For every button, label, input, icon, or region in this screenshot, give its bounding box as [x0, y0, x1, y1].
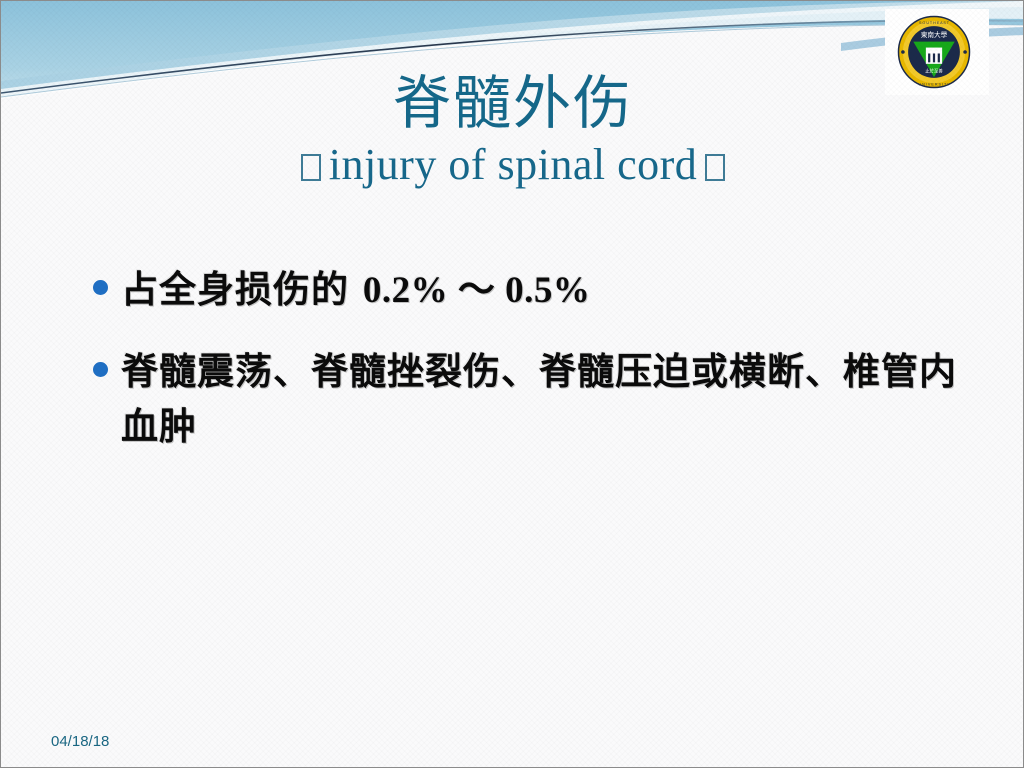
- missing-glyph-box-left: [301, 154, 321, 181]
- missing-glyph-box-right: [705, 154, 725, 181]
- list-item-label: 脊髓震荡、脊髓挫裂伤、脊髓压迫或横断、椎管内血肿: [121, 345, 963, 455]
- svg-text:S O U T H E A S T: S O U T H E A S T: [919, 21, 950, 25]
- slide-canvas: S O U T H E A S T U N I V E R S I T Y 東南…: [0, 0, 1024, 768]
- round-bullet-icon: [93, 280, 108, 295]
- content-bullet-list: 占全身损伤的 0.2% ～ 0.5% 脊髓震荡、脊髓挫裂伤、脊髓压迫或横断、椎管…: [93, 263, 963, 480]
- title-block: 脊髓外伤 injury of spinal cord: [1, 73, 1024, 190]
- list-item-label: 占全身损伤的 0.2% ～ 0.5%: [121, 263, 590, 319]
- slide-date: 04/18/18: [51, 733, 109, 750]
- svg-text:東南大學: 東南大學: [921, 30, 948, 39]
- page-title: 脊髓外伤: [1, 73, 1024, 134]
- page-subtitle-text: injury of spinal cord: [329, 140, 698, 189]
- bullet-1-text: 占全身损伤的: [121, 268, 349, 311]
- list-item: 脊髓震荡、脊髓挫裂伤、脊髓压迫或横断、椎管内血肿: [93, 345, 963, 455]
- bullet-1-value: 0.2% ～ 0.5%: [363, 270, 591, 311]
- list-item: 占全身损伤的 0.2% ～ 0.5%: [93, 263, 963, 319]
- page-subtitle: injury of spinal cord: [1, 140, 1024, 191]
- round-bullet-icon: [93, 362, 108, 377]
